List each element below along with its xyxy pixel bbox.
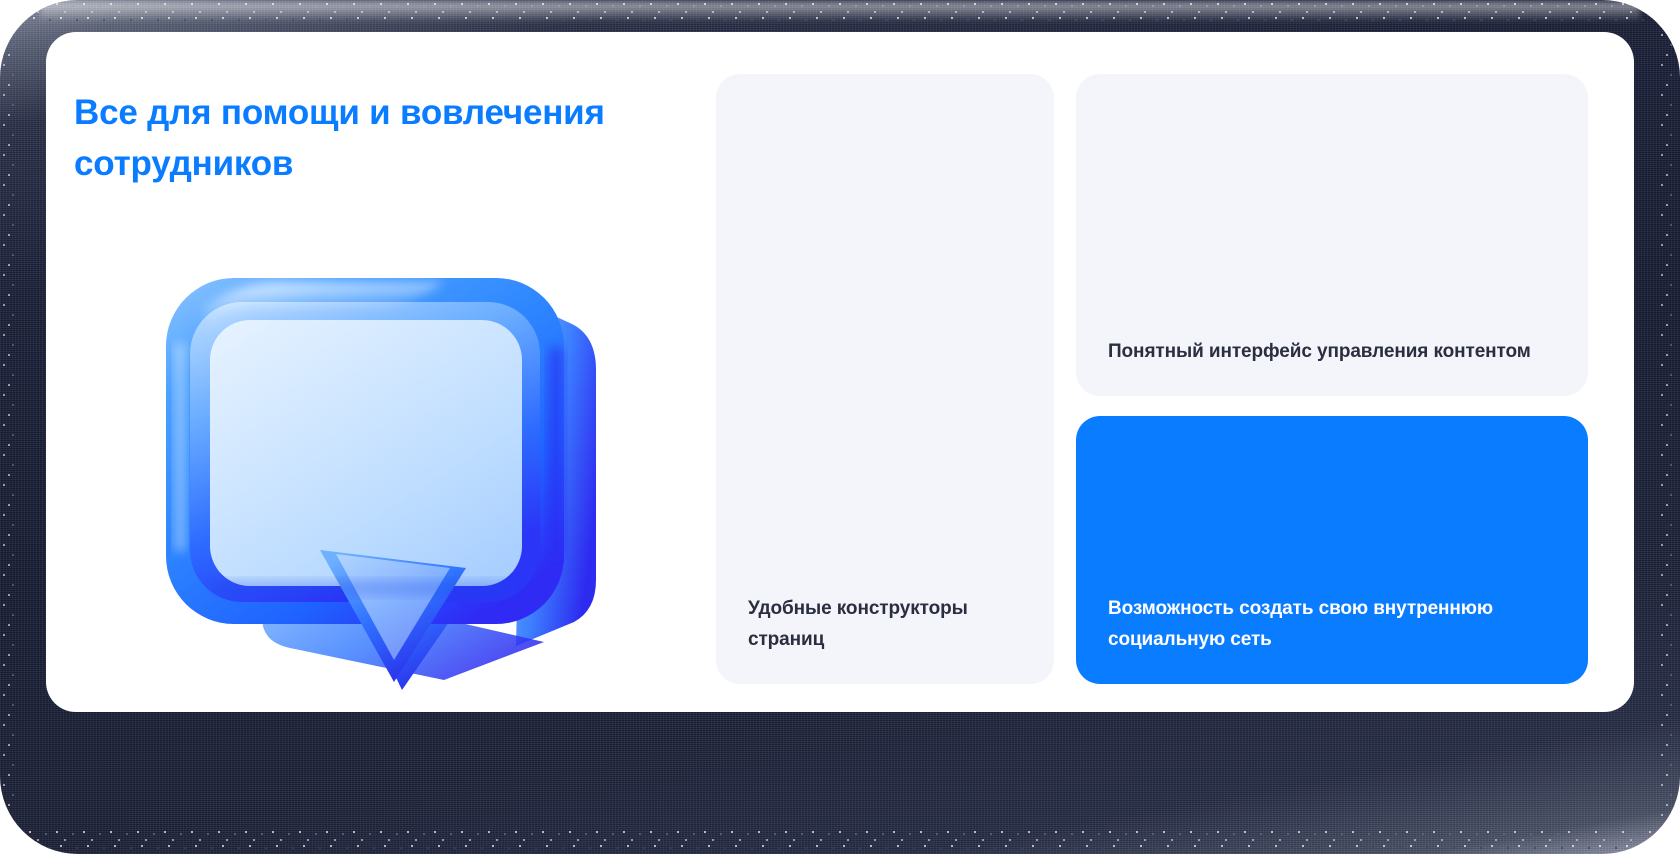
card-social-network-label: Возможность создать свою внутреннюю соци… [1108, 594, 1558, 656]
bezel-speckle-bottom [0, 828, 1680, 854]
screen-panel: Все для помощи и вовлечения сотрудников [46, 32, 1634, 712]
card-cms-label: Понятный интерфейс управления контентом [1108, 337, 1558, 368]
speech-bubble-icon [144, 250, 614, 690]
bezel-speckle-top [0, 0, 1680, 26]
card-social-network[interactable]: Возможность создать свою внутреннюю соци… [1076, 416, 1588, 684]
card-page-builder-label: Удобные конструкторы страниц [748, 594, 1024, 656]
bezel-highlight [40, 2, 1640, 22]
card-cms[interactable]: Понятный интерфейс управления контентом [1076, 74, 1588, 396]
left-column: Все для помощи и вовлечения сотрудников [74, 60, 694, 684]
card-page-builder[interactable]: Удобные конструкторы страниц [716, 74, 1054, 684]
device-bezel: Все для помощи и вовлечения сотрудников [0, 0, 1680, 854]
bezel-speckle-right [1658, 0, 1680, 854]
bezel-speckle-left [0, 0, 22, 854]
page-title: Все для помощи и вовлечения сотрудников [74, 88, 674, 190]
